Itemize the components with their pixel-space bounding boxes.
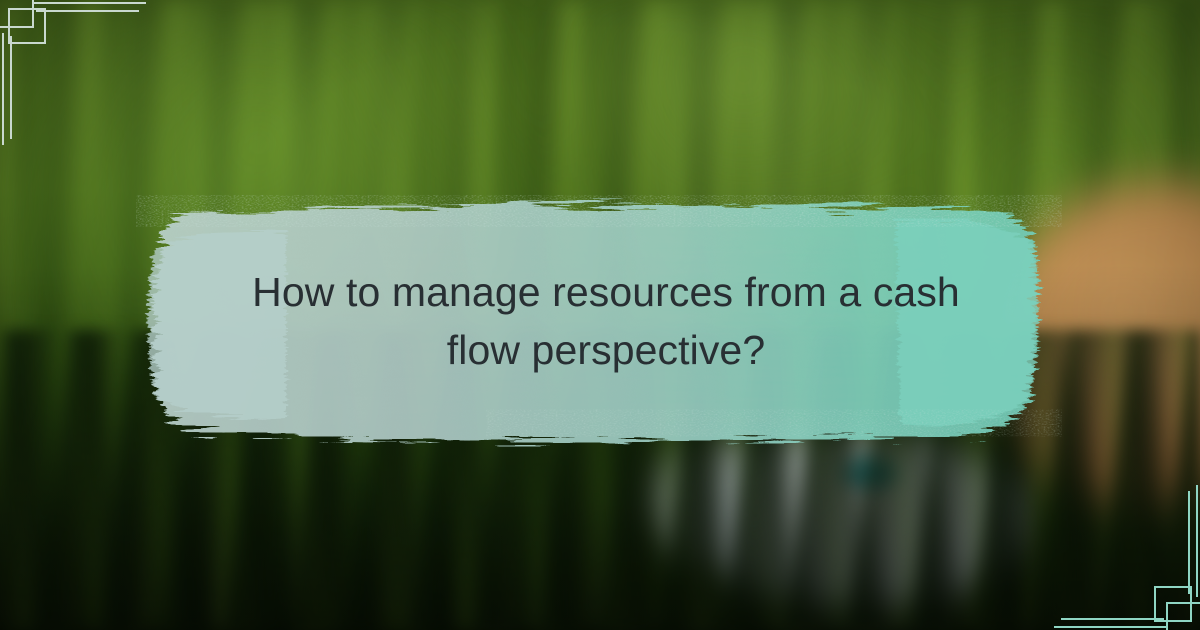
page-title: How to manage resources from a cash flow…	[220, 263, 992, 379]
corner-step-vertical	[32, 0, 34, 28]
poster-canvas: How to manage resources from a cash flow…	[0, 0, 1200, 630]
corner-step-horizontal	[0, 26, 34, 28]
corner-frame-top-left	[0, 0, 200, 160]
headline-text-block: How to manage resources from a cash flow…	[196, 190, 1016, 452]
corner-rule-horizontal-inner	[36, 10, 139, 12]
corner-rule-horizontal-outer	[32, 2, 146, 4]
corner-square-top	[8, 8, 46, 10]
corner-rule-vertical-inner	[10, 36, 12, 139]
headline-banner: How to manage resources from a cash flow…	[136, 190, 1062, 452]
corner-rule-vertical-outer	[2, 33, 4, 145]
corner-square-right	[44, 8, 46, 44]
corner-square-left	[8, 8, 10, 44]
corner-square-bottom	[8, 42, 46, 44]
